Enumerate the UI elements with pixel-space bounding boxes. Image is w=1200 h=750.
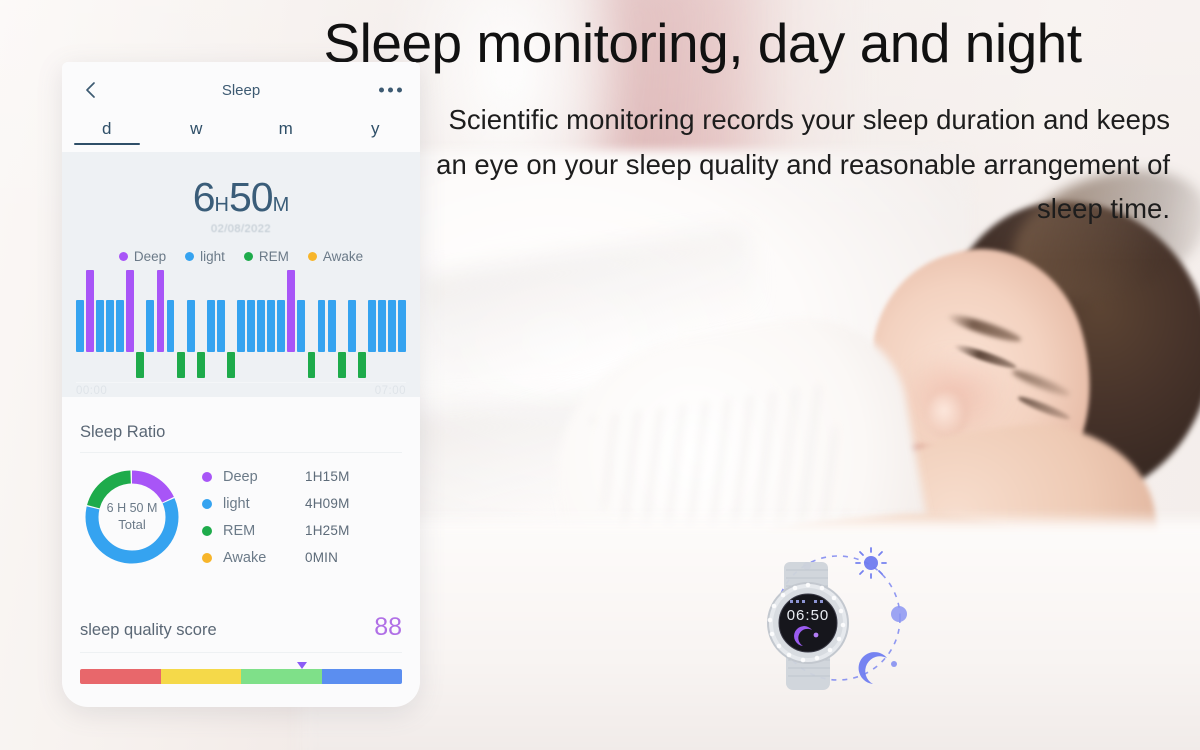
- score-segment-0: [80, 669, 161, 684]
- moon-icon: [859, 652, 897, 684]
- smartwatch-illustration: 06:50: [742, 540, 922, 700]
- donut-center-label: 6 H 50 M Total: [80, 465, 184, 569]
- sleep-summary-panel: 6H50M 02/08/2022 Deep light REM: [62, 152, 420, 397]
- sleep-quality-scale: [80, 669, 402, 684]
- hypnogram-bar: [157, 270, 165, 352]
- legend-item-light: light: [185, 249, 225, 264]
- duration-hours: 6: [193, 174, 215, 220]
- hypnogram-legend: Deep light REM Awake: [62, 249, 420, 264]
- hypnogram-bar: [106, 300, 114, 352]
- score-segment-3: [322, 669, 403, 684]
- hypnogram-bar: [247, 300, 255, 352]
- back-icon[interactable]: [80, 79, 102, 101]
- app-title: Sleep: [222, 82, 260, 99]
- ratio-dot-deep: [202, 472, 212, 482]
- legend-dot-deep: [119, 252, 128, 261]
- ratio-dot-light: [202, 499, 212, 509]
- hypnogram-bar: [207, 300, 215, 352]
- ratio-value-awake: 0MIN: [305, 550, 338, 565]
- ratio-value-light: 4H09M: [305, 496, 350, 511]
- ratio-value-deep: 1H15M: [305, 469, 350, 484]
- hypnogram-bar: [146, 300, 154, 352]
- ratio-value-rem: 1H25M: [305, 523, 350, 538]
- duration-minutes: 50: [229, 174, 273, 220]
- ratio-dot-rem: [202, 526, 212, 536]
- sleep-ratio-card: Sleep Ratio 6 H 50 M Total De: [62, 409, 420, 587]
- ratio-row-deep: Deep 1H15M: [202, 469, 402, 485]
- ratio-label-rem: REM: [223, 523, 305, 539]
- sleep-ratio-list: Deep 1H15M light 4H09M REM 1H25M: [202, 469, 402, 566]
- hypnogram-bar: [217, 300, 225, 352]
- total-sleep-duration: 6H50M: [62, 162, 420, 221]
- legend-label-rem: REM: [259, 249, 289, 264]
- ratio-label-deep: Deep: [223, 469, 305, 485]
- hypnogram-bar: [177, 352, 185, 378]
- hypnogram-bar: [297, 300, 305, 352]
- ratio-row-rem: REM 1H25M: [202, 523, 402, 539]
- period-tabs: d w m y: [62, 118, 420, 152]
- duration-hours-unit: H: [215, 194, 229, 216]
- promo-banner: Sleep monitoring, day and night Scientif…: [0, 0, 1200, 750]
- legend-dot-awake: [308, 252, 317, 261]
- hypnogram-bar: [76, 300, 84, 352]
- more-dots-icon[interactable]: [379, 88, 402, 93]
- phone-mockup: Sleep d w m y 6H50M 02/08/2022: [62, 62, 420, 707]
- svg-text:06:50: 06:50: [787, 607, 830, 624]
- legend-item-awake: Awake: [308, 249, 363, 264]
- hypnogram-bar: [388, 300, 396, 352]
- legend-label-deep: Deep: [134, 249, 166, 264]
- sleep-ratio-donut: 6 H 50 M Total: [80, 465, 184, 569]
- sleep-quality-card: sleep quality score 88: [62, 599, 420, 700]
- hypnogram-bar: [116, 300, 124, 352]
- sleep-ratio-title: Sleep Ratio: [80, 423, 165, 442]
- legend-label-awake: Awake: [323, 249, 363, 264]
- hypnogram-bar: [167, 300, 175, 352]
- hypnogram-bar: [257, 300, 265, 352]
- divider: [80, 652, 402, 653]
- donut-total-time: 6 H 50 M: [107, 501, 158, 517]
- ratio-label-awake: Awake: [223, 550, 305, 566]
- hypnogram-bar: [267, 300, 275, 352]
- hypnogram-bar: [308, 352, 316, 378]
- hypnogram-bar: [197, 352, 205, 378]
- legend-item-rem: REM: [244, 249, 289, 264]
- sleep-quality-title: sleep quality score: [80, 621, 217, 640]
- hypnogram-bar: [287, 270, 295, 352]
- hypnogram-bar: [328, 300, 336, 352]
- tab-month[interactable]: m: [241, 118, 331, 139]
- hypnogram-bar: [136, 352, 144, 378]
- hypnogram-bar: [368, 300, 376, 352]
- hypnogram-chart: [76, 278, 406, 378]
- sleep-quality-value: 88: [374, 613, 402, 642]
- hypnogram-bar: [277, 300, 285, 352]
- legend-dot-rem: [244, 252, 253, 261]
- ratio-row-awake: Awake 0MIN: [202, 550, 402, 566]
- hypnogram-bar: [237, 300, 245, 352]
- hypnogram-bar: [318, 300, 326, 352]
- ratio-label-light: light: [223, 496, 305, 512]
- sun-icon: [856, 548, 886, 578]
- tab-day[interactable]: d: [62, 118, 152, 139]
- hypnogram-bar: [86, 270, 94, 352]
- axis-end-time: 07:00: [375, 385, 406, 397]
- hypnogram-bar: [378, 300, 386, 352]
- hypnogram-bar: [227, 352, 235, 378]
- tab-year[interactable]: y: [331, 118, 421, 139]
- axis-start-time: 00:00: [76, 385, 107, 397]
- score-segment-2: [241, 669, 322, 684]
- tab-week[interactable]: w: [152, 118, 242, 139]
- hypnogram-bar: [338, 352, 346, 378]
- score-marker-icon: [297, 662, 307, 669]
- legend-item-deep: Deep: [119, 249, 166, 264]
- hypnogram-bar: [398, 300, 406, 352]
- donut-total-label: Total: [118, 517, 145, 533]
- ratio-dot-awake: [202, 553, 212, 563]
- hypnogram-bar: [187, 300, 195, 352]
- legend-label-light: light: [200, 249, 225, 264]
- app-navbar: Sleep: [62, 62, 420, 118]
- sleep-date: 02/08/2022: [62, 223, 420, 235]
- hypnogram-axis: 00:00 07:00: [76, 382, 406, 397]
- ratio-row-light: light 4H09M: [202, 496, 402, 512]
- legend-dot-light: [185, 252, 194, 261]
- hypnogram-bar: [348, 300, 356, 352]
- hypnogram-bar: [126, 270, 134, 352]
- duration-minutes-unit: M: [273, 194, 290, 216]
- page-subcopy: Scientific monitoring records your sleep…: [430, 98, 1170, 232]
- hypnogram-bar: [96, 300, 104, 352]
- score-segment-1: [161, 669, 242, 684]
- hypnogram-bar: [358, 352, 366, 378]
